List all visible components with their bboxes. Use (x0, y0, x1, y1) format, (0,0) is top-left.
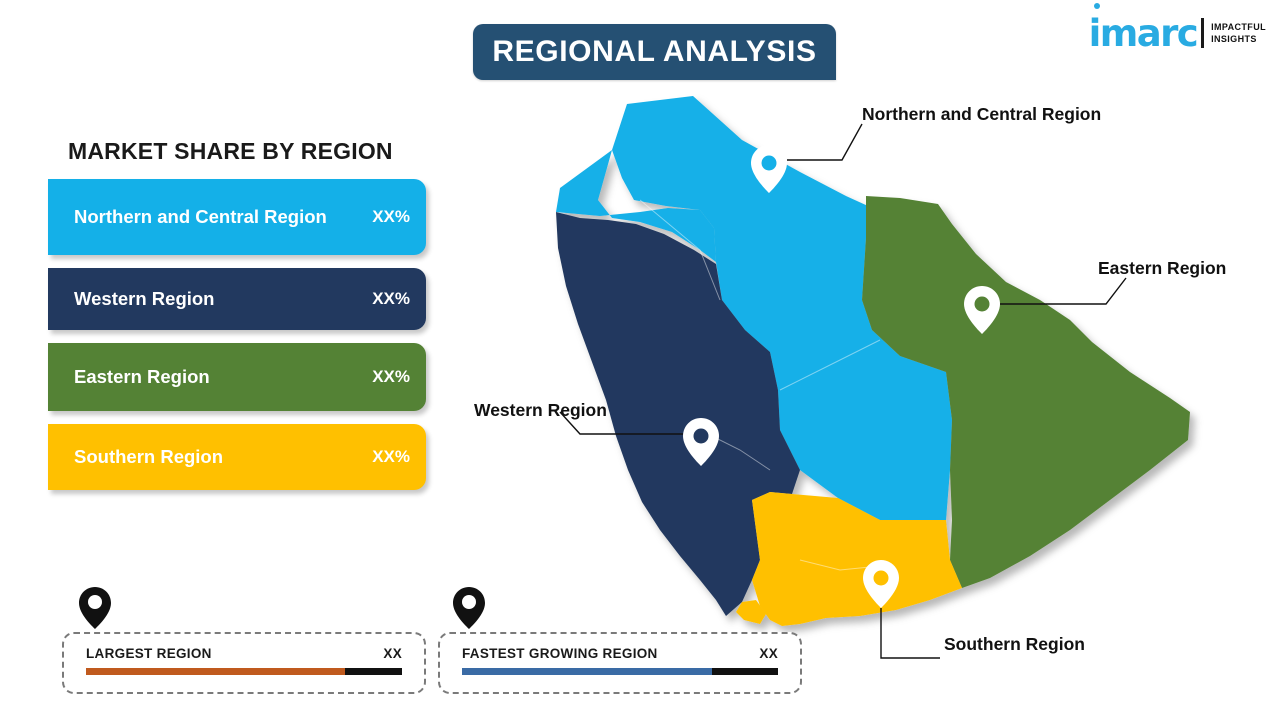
largest-region-value: XX (383, 646, 402, 661)
legend-item-value: XX% (372, 207, 410, 227)
market-share-heading: MARKET SHARE BY REGION (68, 138, 393, 165)
map-pin-western (683, 418, 719, 466)
leader-line-eastern (1000, 278, 1126, 304)
legend-item-southern[interactable]: Southern Region XX% (48, 424, 426, 490)
legend-item-label: Eastern Region (74, 365, 372, 388)
legend-item-label: Southern Region (74, 445, 372, 468)
map-label-western: Western Region (474, 400, 607, 421)
logo-tagline: IMPACTFUL INSIGHTS (1211, 21, 1266, 45)
map-region-southern-tip (736, 600, 766, 624)
map-pin-southern (863, 560, 899, 608)
page-title-banner: REGIONAL ANALYSIS (473, 24, 836, 80)
largest-region-card: LARGEST REGION XX (62, 632, 426, 694)
leader-line-northern (787, 124, 862, 160)
logo-wordmark: imarc (1089, 15, 1197, 52)
map-label-northern-and-central: Northern and Central Region (862, 104, 1101, 125)
map-label-eastern: Eastern Region (1098, 258, 1226, 279)
logo-dot-icon (1094, 3, 1100, 9)
map-region-eastern (862, 196, 1190, 588)
fastest-growing-region-progress-track (462, 668, 778, 675)
map-region-southern (752, 492, 962, 626)
map-region-northern-lobe (556, 150, 716, 262)
market-share-legend: Northern and Central Region XX% Western … (48, 179, 428, 503)
legend-item-eastern[interactable]: Eastern Region XX% (48, 343, 426, 411)
largest-region-label: LARGEST REGION (86, 646, 212, 661)
legend-item-value: XX% (372, 367, 410, 387)
logo-tagline-line2: INSIGHTS (1211, 33, 1266, 45)
fastest-growing-region-label: FASTEST GROWING REGION (462, 646, 658, 661)
page-title: REGIONAL ANALYSIS (492, 35, 816, 69)
largest-region-pin-icon (78, 586, 112, 630)
logo-tagline-line1: IMPACTFUL (1211, 21, 1266, 33)
legend-item-value: XX% (372, 289, 410, 309)
largest-region-progress-fill (86, 668, 345, 675)
leader-line-southern (881, 608, 940, 658)
map-label-southern: Southern Region (944, 634, 1085, 655)
fastest-growing-region-pin-icon (452, 586, 486, 630)
map-region-northern-and-central (612, 96, 952, 520)
legend-item-value: XX% (372, 447, 410, 467)
logo-divider (1201, 18, 1204, 48)
legend-item-label: Northern and Central Region (74, 205, 372, 228)
fastest-growing-region-card: FASTEST GROWING REGION XX (438, 632, 802, 694)
fastest-growing-region-value: XX (759, 646, 778, 661)
legend-item-western[interactable]: Western Region XX% (48, 268, 426, 330)
map-pin-eastern (964, 286, 1000, 334)
legend-item-label: Western Region (74, 287, 372, 310)
fastest-growing-region-progress-fill (462, 668, 712, 675)
largest-region-progress-track (86, 668, 402, 675)
imarc-logo: imarc IMPACTFUL INSIGHTS (1089, 12, 1266, 54)
map-pin-northern-and-central (751, 145, 787, 193)
legend-item-northern-and-central[interactable]: Northern and Central Region XX% (48, 179, 426, 255)
map-internal-borders (640, 200, 880, 570)
